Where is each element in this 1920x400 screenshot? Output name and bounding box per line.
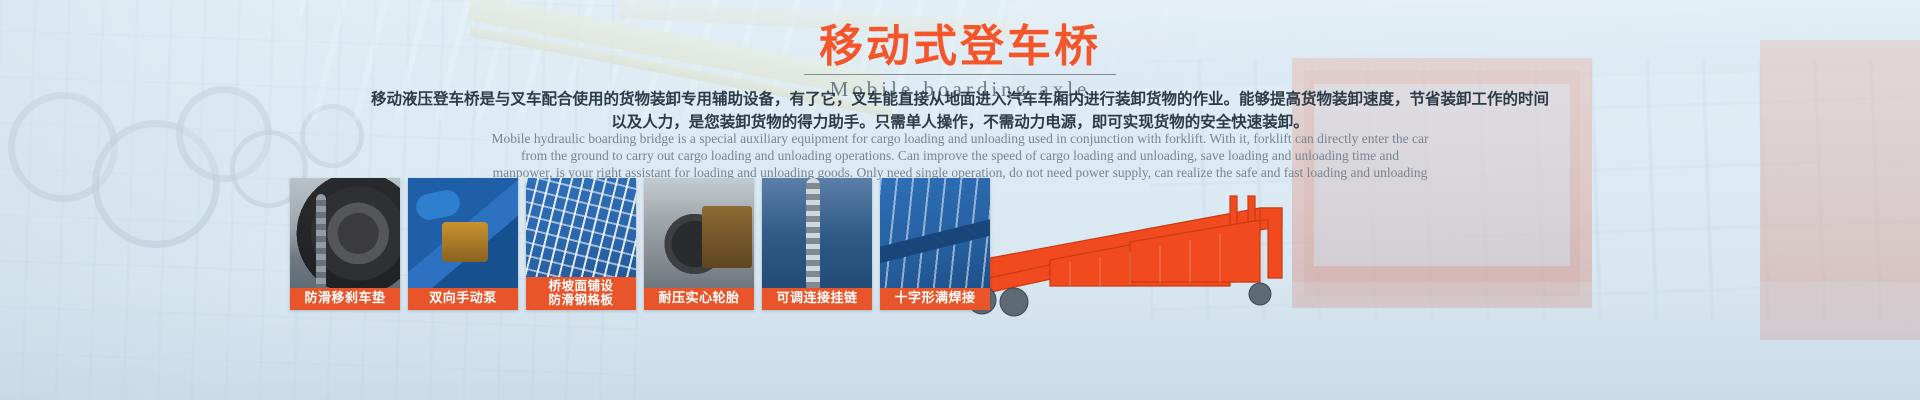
feature-thumbnail-bidirectional-hand-pump[interactable]: 双向手动泵	[408, 178, 518, 310]
feature-thumbnail-adjustable-connecting-chain[interactable]: 可调连接挂链	[762, 178, 872, 310]
feature-thumbnail-cross-full-welding[interactable]: 十字形满焊接	[880, 178, 990, 310]
feature-caption-line: 防滑钢格板	[528, 293, 634, 307]
feature-caption: 十字形满焊接	[880, 288, 990, 310]
feature-caption: 防滑移刹车垫	[290, 288, 400, 310]
feature-caption-line: 桥坡面铺设	[528, 279, 634, 293]
feature-thumbnail-anti-slip-brake-pad[interactable]: 防滑移刹车垫	[290, 178, 400, 310]
feature-caption: 耐压实心轮胎	[644, 288, 754, 310]
feature-thumbnail-anti-slip-steel-grating[interactable]: 桥坡面铺设 防滑钢格板	[526, 178, 636, 310]
feature-caption: 桥坡面铺设 防滑钢格板	[526, 277, 636, 310]
feature-caption: 双向手动泵	[408, 288, 518, 310]
product-banner: 移动式登车桥 Mobile boarding axle 移动液压登车桥是与叉车配…	[0, 0, 1920, 400]
feature-thumbnail-strip: 防滑移刹车垫 双向手动泵 桥坡面铺设 防滑钢格板 耐压实心轮胎 可调连接挂链 十…	[290, 178, 990, 310]
feature-caption: 可调连接挂链	[762, 288, 872, 310]
description-chinese: 移动液压登车桥是与叉车配合使用的货物装卸专用辅助设备，有了它，叉车能直接从地面进…	[370, 88, 1550, 134]
mobile-loading-ramp-illustration	[930, 190, 1350, 340]
feature-thumbnail-pressure-resistant-solid-tire[interactable]: 耐压实心轮胎	[644, 178, 754, 310]
